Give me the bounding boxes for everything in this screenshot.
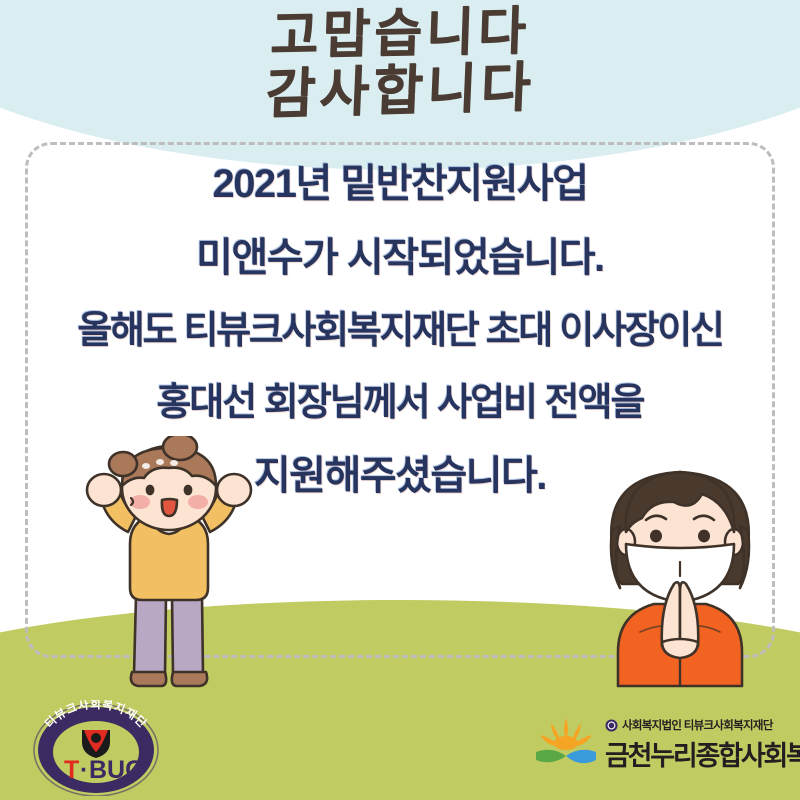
message-line-1: 2021년 밑반찬지원사업 bbox=[25, 164, 775, 204]
gratitude-header: 고맙습니다 감사합니다 bbox=[0, 8, 800, 118]
nuri-affiliation-text: 사회복지법인 티뷰크사회복지재단 bbox=[622, 717, 773, 733]
message-line-2: 미앤수가 시작되었습니다. bbox=[25, 238, 775, 278]
tbuc-wordmark-dot: · bbox=[80, 756, 88, 784]
message-line-3: 올해도 티뷰크사회복지재단 초대 이사장이신 bbox=[25, 312, 775, 350]
sun-leaf-mark bbox=[534, 716, 598, 774]
tbuc-wordmark-buc: BUC bbox=[89, 756, 143, 784]
cheering-child-illustration bbox=[74, 436, 264, 690]
nuri-text-block: 사회복지법인 티뷰크사회복지재단 금천누리종합사회복지관 bbox=[605, 717, 800, 773]
poster-root: 고맙습니다 감사합니다 2021년 밑반찬지원사업 미앤수가 시작되었습니다. … bbox=[0, 0, 800, 800]
nuri-center-name: 금천누리종합사회복지관 bbox=[605, 734, 800, 773]
nuri-top-line-row: 사회복지법인 티뷰크사회복지재단 bbox=[605, 717, 800, 733]
foundation-seal-icon bbox=[605, 719, 618, 732]
message-line-4: 홍대선 회장님께서 사업비 전액을 bbox=[25, 384, 775, 422]
geumcheon-nuri-logo: 사회복지법인 티뷰크사회복지재단 금천누리종합사회복지관 bbox=[534, 704, 786, 786]
masked-woman-illustration bbox=[582, 446, 778, 692]
tbuc-foundation-logo: 티뷰크사회복지재단 T · BUC bbox=[22, 700, 170, 796]
tbuc-wordmark-t: T bbox=[64, 756, 79, 784]
